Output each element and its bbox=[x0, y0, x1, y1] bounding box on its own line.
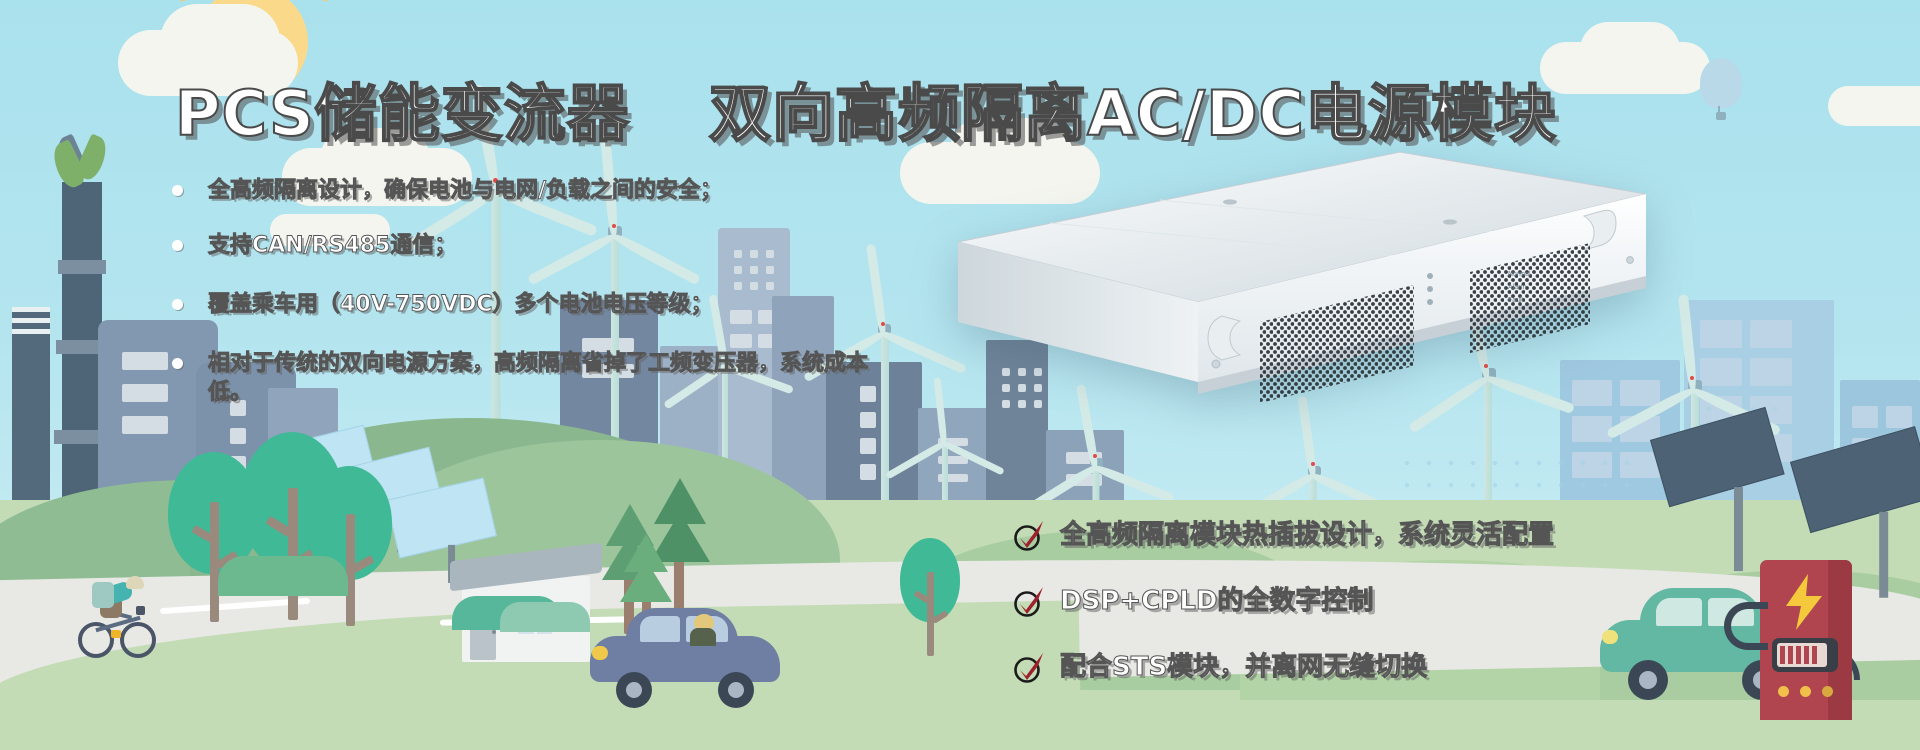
bullet-text: 支持CAN/RS485通信； bbox=[208, 233, 456, 258]
lightning-bolt-icon bbox=[1782, 574, 1826, 630]
list-item: 全高频隔离模块热插拔设计，系统灵活配置 bbox=[1012, 515, 1554, 555]
check-text: DSP+CPLD的全数字控制 bbox=[1060, 586, 1373, 616]
bullet-text: 全高频隔离设计，确保电池与电网/负载之间的安全； bbox=[208, 178, 722, 203]
benefit-check-list: 全高频隔离模块热插拔设计，系统灵活配置 DSP+CPLD的全数字控制 配合STS… bbox=[1012, 515, 1554, 713]
list-item: 配合STS模块，并离网无缝切换 bbox=[1012, 647, 1554, 687]
red-check-circle-icon bbox=[1012, 583, 1048, 619]
bush-shape bbox=[500, 602, 590, 632]
pcs-power-module-image: Normal Alarm Fault bbox=[930, 150, 1650, 410]
red-check-circle-icon bbox=[1012, 517, 1048, 553]
bullet-dot-icon bbox=[172, 240, 183, 251]
title-part-2: 双向高频隔离AC/DC电源模块 bbox=[709, 77, 1557, 150]
page-title: PCS储能变流器 双向高频隔离AC/DC电源模块 bbox=[175, 63, 1557, 153]
marketing-banner: Normal Alarm Fault PCS储能变流器 双向高频隔离AC/DC电… bbox=[0, 0, 1920, 750]
bullet-dot-icon bbox=[172, 358, 183, 369]
check-text: 配合STS模块，并离网无缝切换 bbox=[1060, 652, 1427, 682]
check-text: 全高频隔离模块热插拔设计，系统灵活配置 bbox=[1060, 520, 1554, 550]
bush-shape bbox=[218, 556, 348, 596]
list-item: 相对于传统的双向电源方案，高频隔离省掉了工频变压器，系统成本低。 bbox=[172, 349, 908, 407]
list-item: 支持CAN/RS485通信； bbox=[172, 231, 872, 260]
cloud-icon bbox=[1580, 22, 1680, 78]
list-item: 覆盖乘车用（40V-750VDC）多个电池电压等级； bbox=[172, 290, 872, 319]
led-label-fault: Fault bbox=[1508, 294, 1531, 307]
bullet-dot-icon bbox=[172, 185, 183, 196]
list-item: DSP+CPLD的全数字控制 bbox=[1012, 581, 1554, 621]
led-label-normal: Normal bbox=[1508, 268, 1531, 281]
bullet-dot-icon bbox=[172, 299, 183, 310]
title-part-1: PCS储能变流器 bbox=[175, 77, 630, 150]
red-check-circle-icon bbox=[1012, 649, 1048, 685]
led-label-list: Normal Alarm Fault bbox=[1508, 268, 1531, 307]
feature-bullet-list: 全高频隔离设计，确保电池与电网/负载之间的安全； 支持CAN/RS485通信； … bbox=[172, 176, 872, 433]
cloud-icon bbox=[1828, 86, 1920, 126]
list-item: 全高频隔离设计，确保电池与电网/负载之间的安全； bbox=[172, 176, 872, 205]
led-label-alarm: Alarm bbox=[1508, 281, 1531, 294]
bullet-text: 相对于传统的双向电源方案，高频隔离省掉了工频变压器，系统成本低。 bbox=[208, 349, 908, 407]
bullet-text: 覆盖乘车用（40V-750VDC）多个电池电压等级； bbox=[208, 292, 713, 317]
